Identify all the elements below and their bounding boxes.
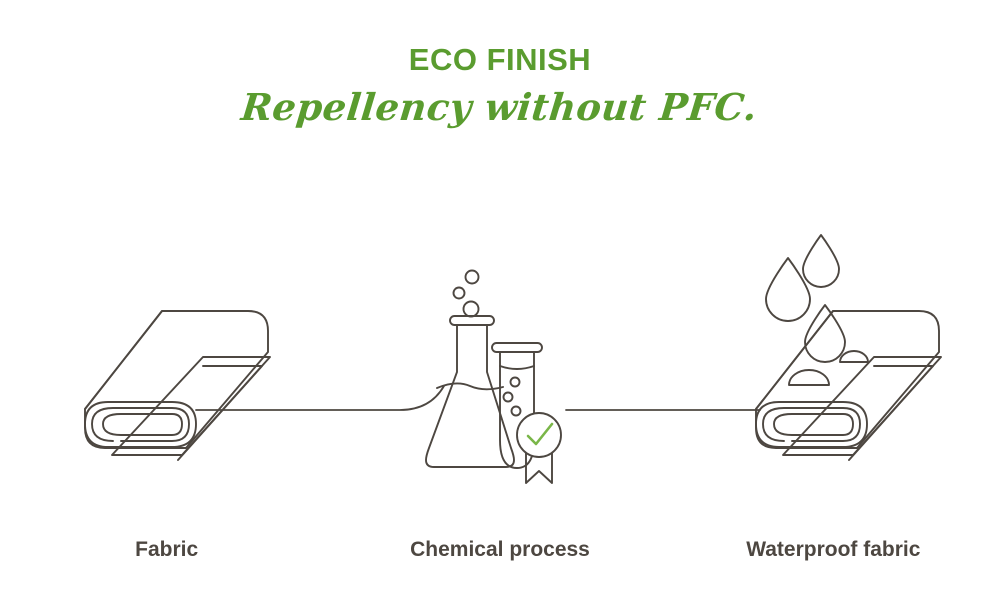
beaded-droplets-icon [789, 351, 868, 385]
certification-badge-icon [517, 413, 561, 483]
folded-fabric-with-droplets-icon [756, 235, 941, 460]
illustration-svg [0, 0, 1000, 615]
caption-chemical-process: Chemical process [333, 536, 666, 576]
caption-fabric: Fabric [0, 536, 333, 576]
infographic-canvas: ECO FINISH Repellency without PFC. [0, 0, 1000, 615]
flask-testtube-badge-icon [426, 271, 561, 484]
flask-bubbles-icon [454, 271, 479, 317]
folded-fabric-icon [85, 311, 270, 460]
water-droplets-icon [766, 235, 845, 362]
connector-line [196, 386, 760, 410]
caption-waterproof-fabric: Waterproof fabric [667, 536, 1000, 576]
illustration-stage [0, 0, 1000, 615]
caption-row: Fabric Chemical process Waterproof fabri… [0, 536, 1000, 576]
